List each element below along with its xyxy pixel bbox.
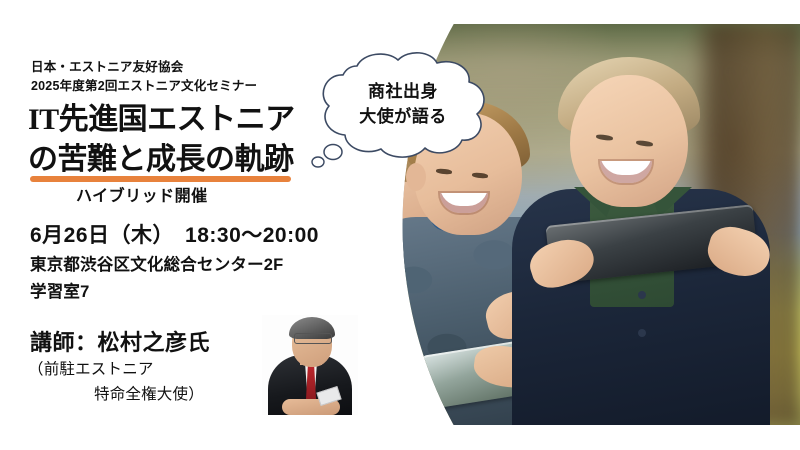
speaker-title-line-2: 特命全権大使）	[28, 382, 204, 407]
page-title: IT先進国エストニア の苦難と成長の軌跡	[28, 100, 295, 180]
thought-bubble-line2: 大使が語る	[359, 107, 447, 126]
event-datetime: 6月26日（木） 18:30〜20:00	[30, 219, 319, 249]
photo-child-right	[512, 53, 782, 425]
venue-line-2: 学習室7	[30, 279, 283, 306]
organizer-line-1: 日本・エストニア友好協会	[31, 58, 257, 77]
event-venue: 東京都渋谷区文化総合センター2F 学習室7	[30, 252, 283, 306]
thought-bubble-line1: 商社出身	[368, 82, 438, 101]
thought-bubble-text: 商社出身 大使が語る	[337, 80, 469, 129]
thought-bubble: 商社出身 大使が語る	[305, 48, 495, 173]
venue-line-1: 東京都渋谷区文化総合センター2F	[30, 252, 283, 279]
seminar-poster: 商社出身 大使が語る 日本・エストニア友好協会 2025年度第2回エストニア文化…	[0, 0, 800, 450]
headline-line-1: IT先進国エストニア	[28, 100, 295, 140]
speaker-title: （前駐エストニア 特命全権大使）	[28, 357, 204, 407]
speaker-portrait	[262, 315, 358, 415]
speaker-title-line-1: （前駐エストニア	[28, 361, 154, 378]
headline-line-2: の苦難と成長の軌跡	[28, 140, 295, 180]
organizer-line-2: 2025年度第2回エストニア文化セミナー	[31, 77, 257, 96]
speaker-name: 講師：松村之彦氏	[30, 325, 210, 357]
organizer-block: 日本・エストニア友好協会 2025年度第2回エストニア文化セミナー	[31, 58, 257, 96]
event-format-label: ハイブリッド開催	[76, 182, 208, 206]
portrait-glasses	[294, 333, 332, 344]
